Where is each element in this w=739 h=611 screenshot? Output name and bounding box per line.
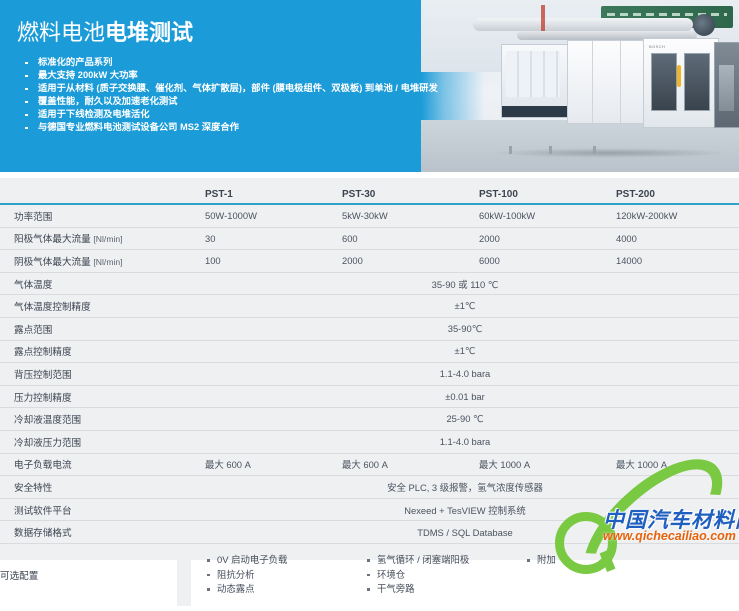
photo-floor <box>421 120 739 172</box>
row-value-all-models: TDMS / SQL Database <box>191 521 739 544</box>
row-value: 50W-1000W <box>191 204 328 227</box>
photo-mid-cabinet <box>567 40 645 124</box>
spec-table-container: PST-1 PST-30 PST-100 PST-200 功率范围50W-100… <box>0 178 739 560</box>
table-row: 阳极气体最大流量 [Nl/min]3060020004000 <box>0 227 739 250</box>
row-label: 电子负载电流 <box>0 453 191 476</box>
option-item: 环境仓 <box>365 568 525 583</box>
row-value: 2000 <box>328 250 465 273</box>
table-row: 测试软件平台Nexeed + TesVIEW 控制系统 <box>0 498 739 521</box>
list-item: 适用于从材料 (质子交换膜、催化剂、气体扩散层)，部件 (膜电极组件、双极板) … <box>20 82 440 95</box>
table-row: 安全特性安全 PLC, 3 级报警，氢气浓度传感器 <box>0 476 739 499</box>
column-header-pst-30: PST-30 <box>328 178 465 204</box>
photo-ceiling-duct <box>473 18 693 31</box>
row-value: 4000 <box>602 227 739 250</box>
row-value-all-models: ±0.01 bar <box>191 385 739 408</box>
table-row: 阴极气体最大流量 [Nl/min]1002000600014000 <box>0 250 739 273</box>
fuel-cell-test-bench-photo: BOSCH <box>421 0 739 172</box>
list-item: 最大支持 200kW 大功率 <box>20 69 440 82</box>
column-header-pst-200: PST-200 <box>602 178 739 204</box>
page-title-bold: 电堆测试 <box>105 20 193 45</box>
row-value: 最大 600 A <box>191 453 328 476</box>
column-header-pst-1: PST-1 <box>191 178 328 204</box>
row-value: 30 <box>191 227 328 250</box>
row-value-all-models: Nexeed + TesVIEW 控制系统 <box>191 498 739 521</box>
table-row: 露点控制精度±1℃ <box>0 340 739 363</box>
table-row: 功率范围50W-1000W5kW-30kW60kW-100kW120kW-200… <box>0 204 739 227</box>
option-item: 0V 启动电子负载 <box>205 553 365 568</box>
row-value: 最大 600 A <box>328 453 465 476</box>
table-body: 功率范围50W-1000W5kW-30kW60kW-100kW120kW-200… <box>0 204 739 606</box>
slide-root: BOSCH 燃料电池电堆测试 标准化的产品系列 最大支持 200kW 大功率 适… <box>0 0 739 560</box>
row-label: 冷却液压力范围 <box>0 430 191 453</box>
bosch-logo: BOSCH <box>649 44 665 49</box>
options-row-groups: 0V 启动电子负载阻抗分析动态露点氢气循环 / 闭塞端阳极环境仓干气旁路附加 <box>191 543 739 606</box>
row-value: 最大 1000 A <box>465 453 602 476</box>
photo-chamber-window-left <box>651 53 677 111</box>
photo-ground-shadow <box>491 148 731 158</box>
page-title: 燃料电池电堆测试 <box>17 22 193 44</box>
row-label: 气体温度 <box>0 272 191 295</box>
list-item: 与德国专业燃料电池测试设备公司 MS2 深度合作 <box>20 121 440 134</box>
photo-test-chamber <box>643 38 719 128</box>
row-value: 120kW-200kW <box>602 204 739 227</box>
row-value: 60kW-100kW <box>465 204 602 227</box>
row-label: 阴极气体最大流量 [Nl/min] <box>0 250 191 273</box>
table-row: 冷却液压力范围1.1-4.0 bara <box>0 430 739 453</box>
hero-banner: BOSCH 燃料电池电堆测试 标准化的产品系列 最大支持 200kW 大功率 适… <box>0 0 739 172</box>
row-label: 气体温度控制精度 <box>0 295 191 318</box>
photo-frame-leg <box>593 146 596 154</box>
row-value-all-models: ±1℃ <box>191 295 739 318</box>
row-value-all-models: 35-90℃ <box>191 317 739 340</box>
column-header-spec <box>0 178 191 204</box>
row-label: 阳极气体最大流量 [Nl/min] <box>0 227 191 250</box>
page-title-light: 燃料电池 <box>17 20 105 45</box>
hero-feature-list: 标准化的产品系列 最大支持 200kW 大功率 适用于从材料 (质子交换膜、催化… <box>20 56 440 135</box>
option-item: 阻抗分析 <box>205 568 365 583</box>
option-item: 动态露点 <box>205 582 365 597</box>
photo-control-cabinet <box>501 44 569 118</box>
row-label: 测试软件平台 <box>0 498 191 521</box>
table-header-row: PST-1 PST-30 PST-100 PST-200 <box>0 178 739 204</box>
photo-blower-icon <box>693 14 715 36</box>
table-row: 电子负载电流最大 600 A最大 600 A最大 1000 A最大 1000 A <box>0 453 739 476</box>
options-row: 可选配置0V 启动电子负载阻抗分析动态露点氢气循环 / 闭塞端阳极环境仓干气旁路… <box>0 543 739 606</box>
row-label: 露点控制精度 <box>0 340 191 363</box>
row-value: 100 <box>191 250 328 273</box>
table-row: 压力控制精度±0.01 bar <box>0 385 739 408</box>
row-label: 背压控制范围 <box>0 363 191 386</box>
photo-frame-leg <box>509 146 512 154</box>
row-value-all-models: ±1℃ <box>191 340 739 363</box>
row-value-all-models: 1.1-4.0 bara <box>191 363 739 386</box>
options-row-label: 可选配置 <box>0 543 191 606</box>
row-value-all-models: 安全 PLC, 3 级报警，氢气浓度传感器 <box>191 476 739 499</box>
row-value: 6000 <box>465 250 602 273</box>
photo-red-pipe <box>541 5 545 31</box>
row-value: 5kW-30kW <box>328 204 465 227</box>
list-item: 标准化的产品系列 <box>20 56 440 69</box>
row-label: 安全特性 <box>0 476 191 499</box>
list-item: 覆盖性能，耐久以及加速老化测试 <box>20 95 440 108</box>
table-row: 露点范围35-90℃ <box>0 317 739 340</box>
row-label: 功率范围 <box>0 204 191 227</box>
photo-chamber-handle <box>677 65 681 87</box>
column-header-pst-100: PST-100 <box>465 178 602 204</box>
row-value: 600 <box>328 227 465 250</box>
table-row: 数据存储格式TDMS / SQL Database <box>0 521 739 544</box>
table-row: 气体温度控制精度±1℃ <box>0 295 739 318</box>
table-row: 背压控制范围1.1-4.0 bara <box>0 363 739 386</box>
row-value: 2000 <box>465 227 602 250</box>
row-label: 压力控制精度 <box>0 385 191 408</box>
table-row: 气体温度35-90 或 110 ℃ <box>0 272 739 295</box>
row-value-all-models: 35-90 或 110 ℃ <box>191 272 739 295</box>
table-row: 冷却液温度范围25-90 ℃ <box>0 408 739 431</box>
list-item: 适用于下线检测及电堆活化 <box>20 108 440 121</box>
photo-side-door <box>714 42 739 128</box>
spec-table: PST-1 PST-30 PST-100 PST-200 功率范围50W-100… <box>0 178 739 606</box>
row-value: 14000 <box>602 250 739 273</box>
row-value: 最大 1000 A <box>602 453 739 476</box>
row-label: 冷却液温度范围 <box>0 408 191 431</box>
row-value-all-models: 1.1-4.0 bara <box>191 430 739 453</box>
row-value-all-models: 25-90 ℃ <box>191 408 739 431</box>
row-label: 数据存储格式 <box>0 521 191 544</box>
option-item: 干气旁路 <box>365 582 525 597</box>
option-item: 附加 <box>525 553 685 568</box>
row-label: 露点范围 <box>0 317 191 340</box>
photo-chamber-window-right <box>684 53 710 111</box>
photo-frame-leg <box>549 146 552 154</box>
option-item: 氢气循环 / 闭塞端阳极 <box>365 553 525 568</box>
